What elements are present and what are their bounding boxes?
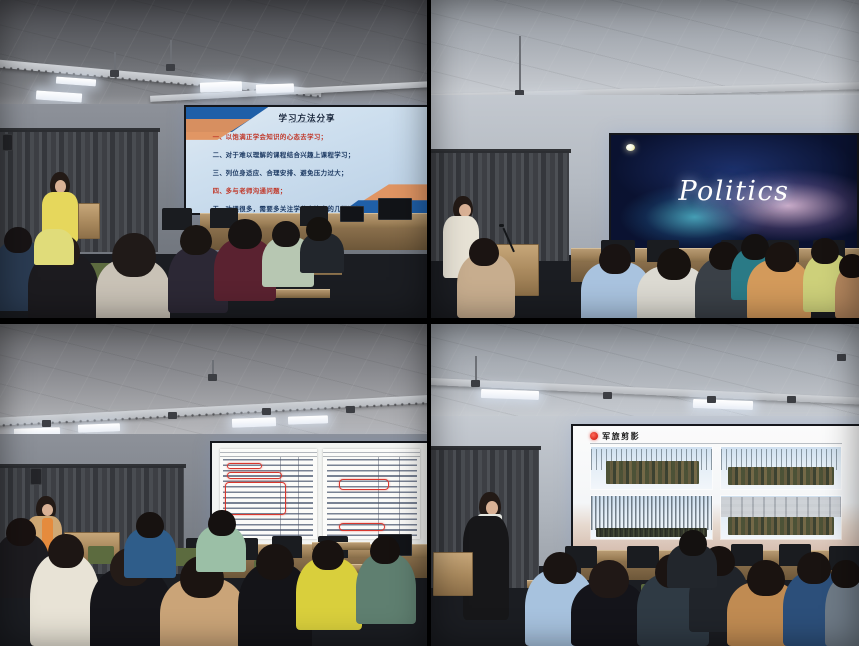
slide-title: 军旅剪影 — [602, 431, 640, 442]
slide-photo-1 — [590, 446, 712, 491]
glowing-orb-icon — [626, 144, 635, 151]
slide-bullet-2-text: 对于难以理解的课程结合兴趣上课程学习； — [226, 150, 355, 159]
slide-bullet-3-number: 三、 — [213, 168, 226, 177]
annotation-box-1 — [227, 463, 262, 469]
audience-bottom-left — [0, 506, 427, 646]
slide-subtitle: LEARNING METHOD — [186, 120, 427, 124]
slide-divider — [590, 443, 842, 444]
slide-bullet-4: 四、 多与老师沟通问题； — [213, 186, 414, 195]
audience-top-left — [0, 223, 427, 318]
slide-bullet-2-number: 二、 — [213, 150, 226, 159]
slide-bullet-1: 一、 以饱满正学会知识的心态去学习； — [213, 132, 414, 141]
red-bullet-icon — [590, 432, 598, 440]
lectern-monitor — [378, 198, 412, 220]
lectern-monitor-2 — [340, 206, 364, 222]
audience-bottom-right — [431, 526, 859, 646]
slide-bullet-3: 三、 列位身适应、合理安排、避免压力过大； — [213, 168, 414, 177]
slide-bullet-1-text: 以饱满正学会知识的心态去学习； — [226, 132, 328, 141]
collage-panel-top-right: Politics — [431, 0, 859, 318]
annotation-box-2 — [227, 472, 282, 479]
collage-panel-top-left: 学习方法分享 LEARNING METHOD 一、 以饱满正学会知识的心态去学习… — [0, 0, 427, 318]
slide-header: 军旅剪影 — [590, 431, 640, 442]
slide-title: Politics — [611, 176, 857, 207]
slide-bullet-3-text: 列位身适应、合理安排、避免压力过大； — [226, 168, 348, 177]
slide-photo-2 — [720, 446, 842, 491]
slide-bullet-4-number: 四、 — [213, 186, 226, 195]
photo-collage: 学习方法分享 LEARNING METHOD 一、 以饱满正学会知识的心态去学习… — [0, 0, 859, 646]
annotation-box-4 — [339, 479, 390, 491]
collage-panel-bottom-left — [0, 324, 427, 646]
slide-bullet-2: 二、 对于难以理解的课程结合兴趣上课程学习； — [213, 150, 414, 159]
audience-top-right — [431, 238, 859, 318]
slide-bullet-4-text: 多与老师沟通问题； — [226, 186, 287, 195]
collage-panel-bottom-right: 军旅剪影 — [431, 324, 859, 646]
slide-bullet-1-number: 一、 — [213, 132, 226, 141]
lecture-screen-politics: Politics — [609, 133, 859, 251]
slide-politics-title: Politics — [611, 135, 857, 249]
